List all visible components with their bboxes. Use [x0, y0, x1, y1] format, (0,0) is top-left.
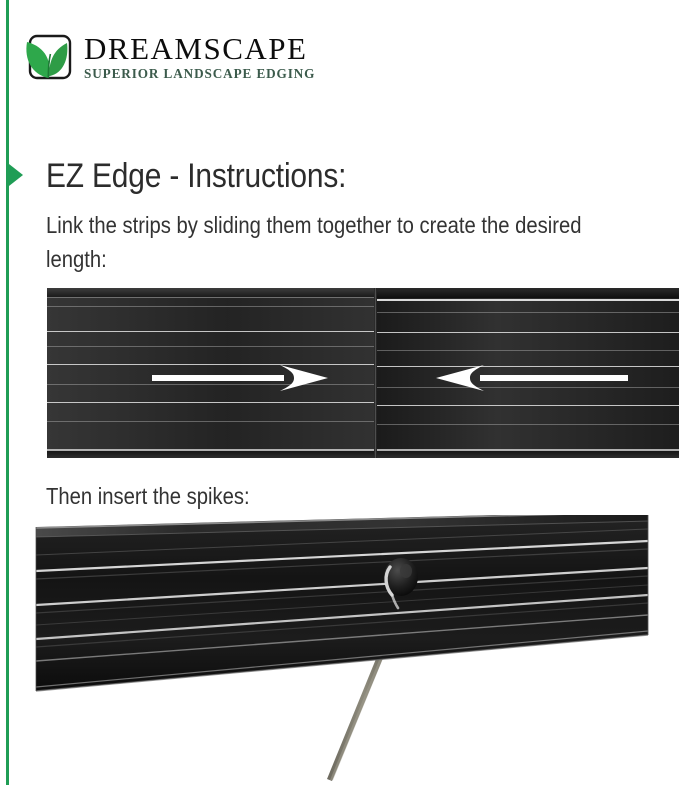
step-2-instruction: Then insert the spikes:	[46, 480, 250, 512]
step-1-instruction: Link the strips by sliding them together…	[46, 208, 644, 276]
arrow-left-icon	[428, 363, 628, 393]
brand-tagline: SUPERIOR LANDSCAPE EDGING	[84, 66, 315, 81]
green-triangle-bullet-icon	[9, 164, 23, 186]
page-title: EZ Edge - Instructions:	[46, 156, 346, 196]
figure-strips-sliding	[47, 288, 679, 458]
two-leaves-in-rounded-square-icon	[22, 32, 74, 84]
brand-name: DREAMSCAPE	[84, 33, 315, 65]
brand-logo: DREAMSCAPE SUPERIOR LANDSCAPE EDGING	[22, 32, 315, 84]
arrow-right-icon	[152, 363, 332, 393]
left-green-rule	[6, 0, 9, 785]
edging-strip-body	[36, 515, 648, 691]
instruction-sheet-page: DREAMSCAPE SUPERIOR LANDSCAPE EDGING EZ …	[0, 0, 679, 785]
strip-joint-seam	[374, 288, 377, 458]
figure-strip-with-spike	[30, 515, 679, 785]
